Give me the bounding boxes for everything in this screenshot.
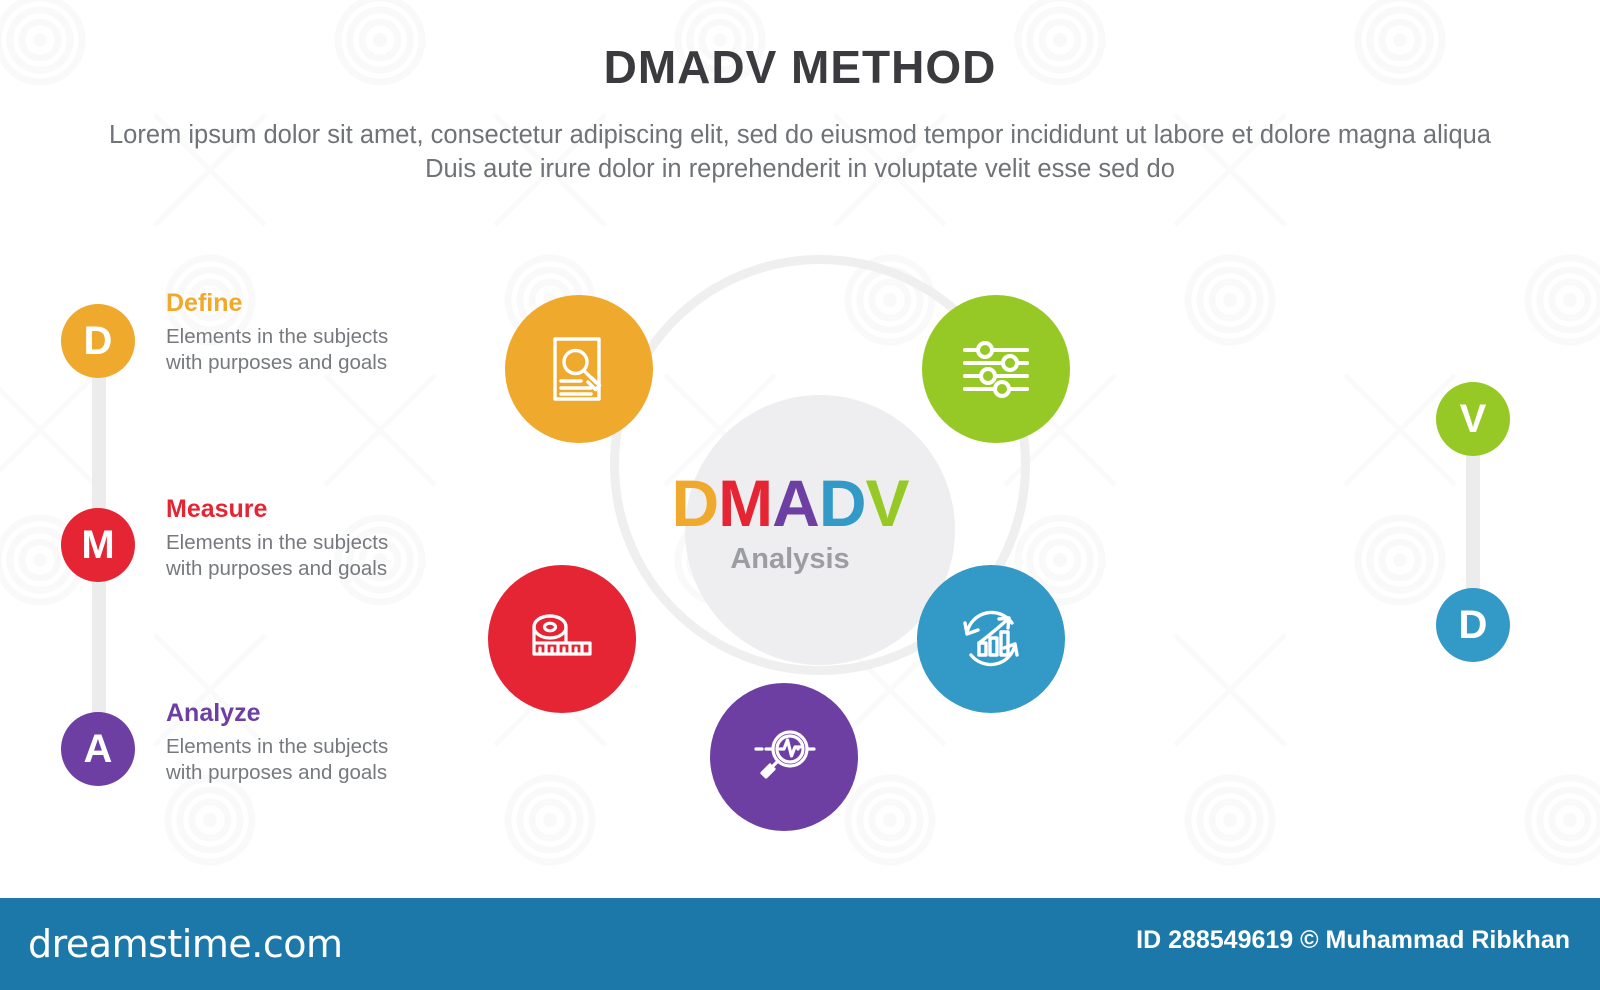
- icon-circle-design[interactable]: [917, 565, 1065, 713]
- badge-letter: V: [1460, 399, 1487, 439]
- item-title-analyze: Analyze: [166, 700, 406, 728]
- icon-circle-analyze[interactable]: [710, 683, 858, 831]
- badge-letter: D: [1459, 605, 1488, 645]
- badge-analyze: A: [61, 712, 135, 786]
- badge-verify: V: [1436, 382, 1510, 456]
- item-description-measure: Elements in the subjects with purposes a…: [166, 530, 406, 582]
- desc-line-1: Elements in the subjects: [166, 734, 406, 760]
- desc-line-2: with purposes and goals: [166, 556, 406, 582]
- page-title: DMADV METHOD: [0, 40, 1600, 94]
- wordmark-letter-m: M: [718, 470, 772, 536]
- infographic-canvas: DMADV METHOD Lorem ipsum dolor sit amet,…: [0, 0, 1600, 990]
- badge-design: D: [1436, 588, 1510, 662]
- wordmark-letter-d2: D: [819, 470, 866, 536]
- sliders-settings-icon: [955, 328, 1037, 410]
- item-title-measure: Measure: [166, 496, 406, 524]
- badge-letter: A: [84, 729, 113, 769]
- dmadv-wordmark: DMADV: [505, 470, 1075, 536]
- footer-bar: dreamstime.com ID 288549619 © Muhammad R…: [0, 898, 1600, 990]
- magnifier-pulse-icon: [742, 715, 826, 799]
- page-subtitle: Lorem ipsum dolor sit amet, consectetur …: [90, 118, 1510, 186]
- item-title-define: Define: [166, 290, 406, 318]
- badge-letter: M: [81, 525, 114, 565]
- desc-line-1: Elements in the subjects: [166, 530, 406, 556]
- logo-text: dreamstime.com: [28, 922, 342, 966]
- badge-letter: D: [84, 321, 113, 361]
- center-diagram: DMADV Analysis: [505, 255, 1075, 835]
- icon-circle-verify[interactable]: [922, 295, 1070, 443]
- desc-line-2: with purposes and goals: [166, 760, 406, 786]
- item-description-define: Elements in the subjects with purposes a…: [166, 324, 406, 376]
- item-description-analyze: Elements in the subjects with purposes a…: [166, 734, 406, 786]
- desc-line-2: with purposes and goals: [166, 350, 406, 376]
- measuring-tape-icon: [520, 597, 604, 681]
- growth-chart-refresh-icon: [949, 597, 1033, 681]
- badge-define: D: [61, 304, 135, 378]
- wordmark-letter-v: V: [865, 470, 908, 536]
- wordmark-letter-a: A: [772, 470, 819, 536]
- badge-measure: M: [61, 508, 135, 582]
- desc-line-1: Elements in the subjects: [166, 324, 406, 350]
- image-credit: ID 288549619 © Muhammad Ribkhan: [1136, 926, 1570, 955]
- dreamstime-logo: dreamstime.com: [28, 922, 342, 966]
- icon-circle-measure[interactable]: [488, 565, 636, 713]
- icon-circle-define[interactable]: [505, 295, 653, 443]
- document-search-icon: [539, 329, 619, 409]
- wordmark-letter-d1: D: [671, 470, 718, 536]
